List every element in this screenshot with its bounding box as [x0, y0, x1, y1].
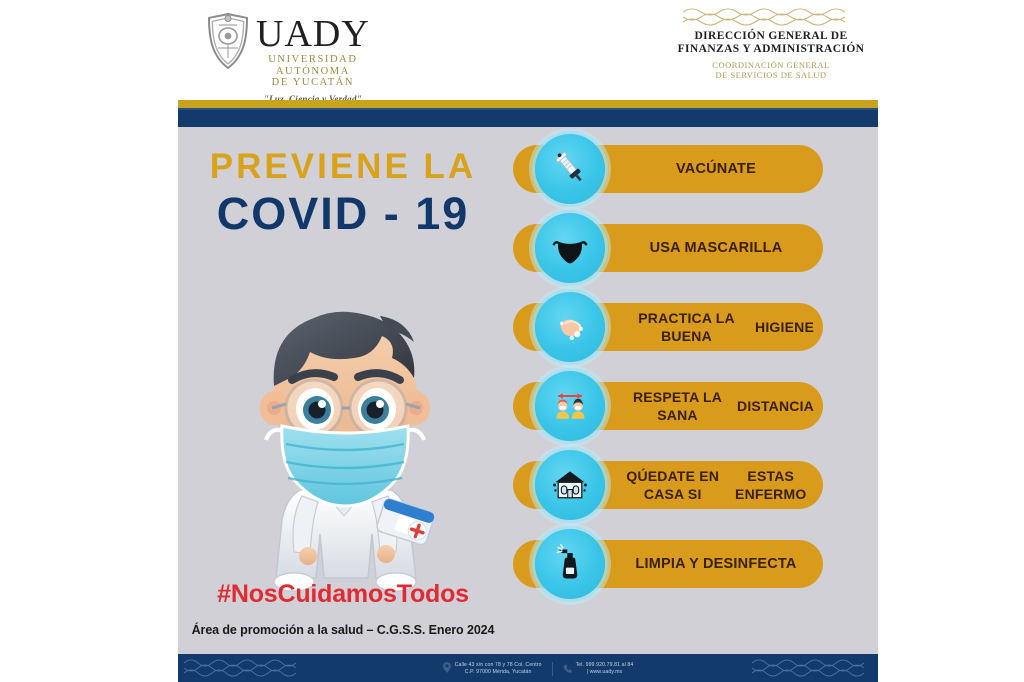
map-pin-icon	[443, 660, 451, 678]
tip-item-distancia[interactable]: RESPETA LA SANA DISTANCIA	[513, 382, 823, 430]
uady-subtitle: UNIVERSIDAD AUTÓNOMA DE YUCATÁN	[268, 54, 357, 89]
doctor-character-icon	[230, 258, 460, 598]
tip-label: VACÚNATE	[618, 145, 814, 193]
tip-item-mascarilla[interactable]: USA MASCARILLA	[513, 224, 823, 272]
tip-label-line-2: DISTANCIA	[737, 397, 814, 415]
tip-label: LIMPIA Y DESINFECTA	[618, 540, 814, 588]
covid-prevention-poster: PREVIENE LA COVID - 19	[178, 100, 878, 682]
spray-bottle-icon	[535, 529, 605, 599]
page-header: UADY UNIVERSIDAD AUTÓNOMA DE YUCATÁN "Lu…	[0, 0, 1024, 100]
poster-title-main: COVID - 19	[178, 188, 508, 240]
uady-wordmark: UADY UNIVERSIDAD AUTÓNOMA DE YUCATÁN "Lu…	[256, 12, 370, 104]
tip-label: QÚEDATE EN CASA SI ESTAS ENFERMO	[618, 461, 814, 509]
direccion-subtitle: COORDINACIÓN GENERAL DE SERVICIOS DE SAL…	[676, 60, 866, 80]
uady-subtitle-line-1: UNIVERSIDAD	[268, 54, 357, 65]
poster-credit: Área de promoción a la salud – C.G.S.S. …	[178, 623, 508, 637]
tip-item-vacunate[interactable]: VACÚNATE	[513, 145, 823, 193]
direccion-title-line-2: FINANZAS Y ADMINISTRACIÓN	[678, 43, 865, 55]
stay-home-icon	[535, 450, 605, 520]
direccion-subtitle-line-1: COORDINACIÓN GENERAL	[712, 60, 829, 70]
tip-label-line-1: RESPETA LA SANA	[618, 388, 737, 424]
uady-subtitle-line-2: AUTÓNOMA	[276, 66, 350, 77]
social-distance-icon	[535, 371, 605, 441]
footer-address-line-1: Calle 43 s/n con 78 y 78 Col. Centro	[455, 662, 542, 668]
uady-title: UADY	[256, 16, 370, 52]
uady-logo: UADY UNIVERSIDAD AUTÓNOMA DE YUCATÁN "Lu…	[206, 12, 370, 104]
tip-label-line-2: ESTAS ENFERMO	[727, 467, 814, 503]
washing-hands-icon	[535, 292, 605, 362]
tip-item-limpia-desinfecta[interactable]: LIMPIA Y DESINFECTA	[513, 540, 823, 588]
syringe-icon	[535, 134, 605, 204]
footer-contact-group: Tel. 999.920.79.81 al 84 | www.uady.mx	[563, 660, 634, 678]
footer-address-line-2: C.P. 97000 Mérida, Yucatán	[465, 669, 532, 675]
poster-top-navy-bar	[178, 108, 878, 127]
poster-top-gold-bar	[178, 100, 878, 108]
face-mask-icon	[535, 213, 605, 283]
tip-label-line-2: HIGIENE	[755, 318, 814, 336]
direccion-title: DIRECCIÓN GENERAL DE FINANZAS Y ADMINIST…	[676, 30, 866, 56]
tip-item-higiene[interactable]: PRACTICA LA BUENA HIGIENE	[513, 303, 823, 351]
poster-title-block: PREVIENE LA COVID - 19	[178, 148, 508, 240]
footer-divider	[552, 662, 553, 676]
footer-address-group: Calle 43 s/n con 78 y 78 Col. Centro C.P…	[443, 660, 542, 678]
tip-label-line-1: PRACTICA LA BUENA	[618, 309, 755, 345]
header-wave-icon	[676, 6, 866, 28]
direccion-subtitle-line-2: DE SERVICIOS DE SALUD	[715, 70, 826, 80]
tip-label: USA MASCARILLA	[618, 224, 814, 272]
footer-wave-right-icon	[752, 656, 872, 680]
uady-shield-icon	[206, 12, 250, 70]
footer-phone: Tel. 999.920.79.81 al 84	[576, 662, 634, 668]
footer-wave-left-icon	[184, 656, 304, 680]
footer-contact: Tel. 999.920.79.81 al 84 | www.uady.mx	[576, 662, 634, 675]
phone-icon	[563, 660, 572, 678]
footer-address: Calle 43 s/n con 78 y 78 Col. Centro C.P…	[455, 662, 542, 675]
uady-subtitle-line-3: DE YUCATÁN	[272, 77, 354, 88]
direccion-general-block: DIRECCIÓN GENERAL DE FINANZAS Y ADMINIST…	[676, 6, 866, 80]
footer-contact-info: Calle 43 s/n con 78 y 78 Col. Centro C.P…	[378, 659, 698, 679]
direccion-title-line-1: DIRECCIÓN GENERAL DE	[694, 30, 847, 42]
poster-top-navy-highlight	[178, 108, 878, 110]
tip-label: RESPETA LA SANA DISTANCIA	[618, 382, 814, 430]
prevention-tips-list: VACÚNATE USA MASCARILLA	[513, 145, 868, 645]
tip-label: PRACTICA LA BUENA HIGIENE	[618, 303, 814, 351]
poster-title-top: PREVIENE LA	[178, 148, 508, 186]
tip-label-line-1: QÚEDATE EN CASA SI	[618, 467, 727, 503]
campaign-hashtag: #NosCuidamosTodos	[178, 580, 508, 609]
tip-item-quedate-en-casa[interactable]: QÚEDATE EN CASA SI ESTAS ENFERMO	[513, 461, 823, 509]
poster-footer: Calle 43 s/n con 78 y 78 Col. Centro C.P…	[178, 654, 878, 682]
poster-left-column: PREVIENE LA COVID - 19	[178, 128, 508, 654]
poster-canvas: UADY UNIVERSIDAD AUTÓNOMA DE YUCATÁN "Lu…	[0, 0, 1024, 682]
footer-website[interactable]: | www.uady.mx	[587, 669, 623, 675]
